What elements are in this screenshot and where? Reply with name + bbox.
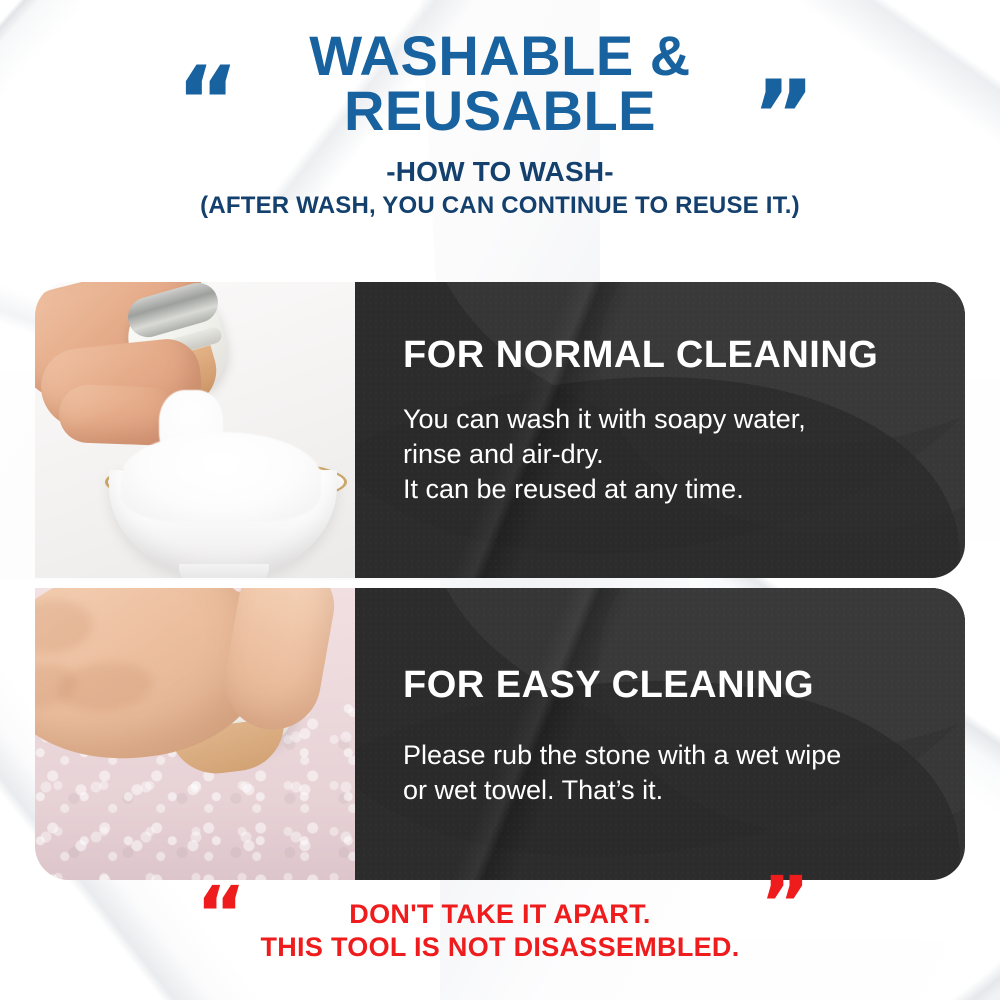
knuckle-shape-1 — [35, 596, 95, 659]
panel-content-easy: FOR EASY CLEANING Please rub the stone w… — [355, 588, 965, 808]
photo-normal-cleaning — [35, 282, 355, 578]
page-title: WASHABLE & REUSABLE — [220, 28, 780, 138]
text-panel-easy-cleaning: FOR EASY CLEANING Please rub the stone w… — [355, 588, 965, 880]
panel-content-normal: FOR NORMAL CLEANING You can wash it with… — [355, 282, 965, 507]
quote-open-blue-icon: “ — [176, 54, 235, 150]
section-body-normal-cleaning: You can wash it with soapy water, rinse … — [403, 402, 965, 507]
foam-mound-shape — [121, 432, 321, 522]
subtitle-how-to-wash: -HOW TO WASH- — [0, 156, 1000, 188]
quote-close-blue-icon: ” — [752, 68, 811, 164]
section-title-normal-cleaning: FOR NORMAL CLEANING — [403, 336, 965, 376]
quote-close-red-icon: ” — [760, 866, 807, 942]
section-body-easy-cleaning: Please rub the stone with a wet wipe or … — [403, 738, 965, 808]
footer-warning: “ DON'T TAKE IT APART. THIS TOOL IS NOT … — [0, 898, 1000, 964]
quote-open-red-icon: “ — [196, 876, 243, 952]
header: “ WASHABLE & REUSABLE ” -HOW TO WASH- (A… — [0, 28, 1000, 220]
warning-line-1: DON'T TAKE IT APART. — [0, 898, 1000, 931]
headline-row: “ WASHABLE & REUSABLE ” — [0, 28, 1000, 138]
subtitle-after-wash: (AFTER WASH, YOU CAN CONTINUE TO REUSE I… — [0, 192, 1000, 220]
section-normal-cleaning: FOR NORMAL CLEANING You can wash it with… — [35, 282, 965, 578]
infographic-canvas: “ WASHABLE & REUSABLE ” -HOW TO WASH- (A… — [0, 0, 1000, 1000]
section-title-easy-cleaning: FOR EASY CLEANING — [403, 666, 965, 706]
section-easy-cleaning: FOR EASY CLEANING Please rub the stone w… — [35, 588, 965, 880]
photo-easy-cleaning — [35, 588, 355, 880]
text-panel-normal-cleaning: FOR NORMAL CLEANING You can wash it with… — [355, 282, 965, 578]
bowl-foot-shape — [179, 564, 269, 578]
warning-line-2: THIS TOOL IS NOT DISASSEMBLED. — [0, 931, 1000, 964]
